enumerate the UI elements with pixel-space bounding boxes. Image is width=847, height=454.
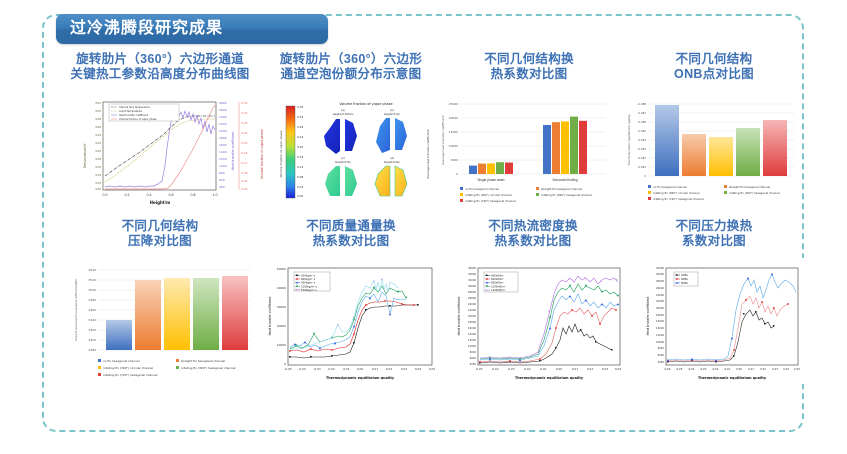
svg-text:1400: 1400 xyxy=(219,150,227,154)
svg-text:30000: 30000 xyxy=(277,305,286,309)
chart-1-legend-3: Volume fraction of vapor phase xyxy=(119,118,157,121)
chart-1-svg: 552 550 548 546 544 542 540 538 536 534 … xyxy=(76,96,254,208)
svg-text:+: + xyxy=(381,277,383,281)
svg-text:0.05: 0.05 xyxy=(794,367,800,371)
svg-text:Thermodynamic equilibrium qual: Thermodynamic equilibrium quality xyxy=(627,114,631,167)
caption-chart-6: 不同质量通量换 热系数对比图 xyxy=(256,219,446,249)
svg-text:538: 538 xyxy=(95,157,101,161)
svg-text:0.03: 0.03 xyxy=(602,367,608,371)
svg-text:Temperature/K: Temperature/K xyxy=(83,143,87,170)
chart-4-legend-1: straight fin hexagonal channel xyxy=(729,185,770,189)
svg-text:0.4: 0.4 xyxy=(146,193,151,197)
svg-text:0.03: 0.03 xyxy=(401,367,407,371)
caption-line-1: 不同压力换热 xyxy=(628,219,800,234)
svg-text:0.24: 0.24 xyxy=(241,131,248,135)
svg-text:24000: 24000 xyxy=(656,293,664,297)
svg-text:Heat transfer coefficient: Heat transfer coefficient xyxy=(268,296,272,336)
chart-4-legend-2: rotating fin (360°) circular channel xyxy=(653,191,700,195)
svg-text:Average heat transfer coeffici: Average heat transfer coefficient xyxy=(441,114,445,164)
svg-text:0.20: 0.20 xyxy=(297,145,303,149)
chart-4-svg: -0.088-0.087-0.086 -0.085-0.084-0.083 -0… xyxy=(622,96,800,208)
svg-text:1800: 1800 xyxy=(219,136,227,140)
svg-text:14000: 14000 xyxy=(656,326,664,330)
caption-chart-7: 不同热流密度换 热系数对比图 xyxy=(443,219,623,249)
svg-text:0.02: 0.02 xyxy=(386,367,392,371)
svg-text:+: + xyxy=(616,277,618,281)
svg-text:20000: 20000 xyxy=(277,324,286,328)
svg-text:0.01: 0.01 xyxy=(372,367,378,371)
svg-text:25000: 25000 xyxy=(449,102,458,106)
chart-6-svg: 500004000030000 20000100000 Heat transfe… xyxy=(262,258,440,384)
caption-line-2: 热系数对比图 xyxy=(443,234,623,249)
svg-text:10000: 10000 xyxy=(468,344,476,348)
svg-text:-0.04: -0.04 xyxy=(298,367,305,371)
caption-chart-4: 不同几何结构 ONB点对比图 xyxy=(628,52,800,82)
svg-text:0: 0 xyxy=(456,172,458,176)
chart-7-legend-4: 1200kW/m² xyxy=(491,288,506,292)
svg-text:Height/m: Height/m xyxy=(150,200,171,205)
svg-text:30000: 30000 xyxy=(656,272,664,276)
svg-text:10000: 10000 xyxy=(656,340,664,344)
svg-text:8000: 8000 xyxy=(658,346,665,350)
chart-6-legend-0: 300kg/m²·s xyxy=(301,273,316,277)
chart-3-legend-2: rotating fin (360°) circular channel xyxy=(465,193,512,197)
svg-text:30000: 30000 xyxy=(468,284,476,288)
svg-text:544: 544 xyxy=(95,133,101,137)
svg-text:532: 532 xyxy=(95,181,101,185)
svg-text:Thermodynamic equilibrium qual: Thermodynamic equilibrium quality xyxy=(698,376,767,380)
svg-text:2600: 2600 xyxy=(219,108,227,112)
svg-text:0.00: 0.00 xyxy=(357,367,363,371)
svg-text:10000: 10000 xyxy=(449,144,458,148)
svg-text:28000: 28000 xyxy=(468,290,476,294)
svg-text:3400: 3400 xyxy=(88,338,96,342)
caption-line-1: 不同质量通量换 xyxy=(256,219,446,234)
svg-text:Heat transfer coefficient: Heat transfer coefficient xyxy=(457,296,461,336)
svg-text:0.02: 0.02 xyxy=(760,367,766,371)
chart-6-legend-3: 1200kg/m²·s xyxy=(301,284,317,288)
chart-8-legend-1: 6MPa xyxy=(681,277,688,281)
chart-7-svg: 360003400032000 300002800026000 24000220… xyxy=(450,258,628,384)
svg-text:32000: 32000 xyxy=(656,266,664,270)
svg-text:6000: 6000 xyxy=(658,353,665,357)
svg-text:3380: 3380 xyxy=(88,348,96,352)
svg-text:36000: 36000 xyxy=(468,266,476,270)
svg-text:3440: 3440 xyxy=(88,318,96,322)
svg-text:3480: 3480 xyxy=(88,298,96,302)
caption-chart-8: 不同压力换热 系数对比图 xyxy=(628,219,800,249)
svg-text:-0.02: -0.02 xyxy=(712,367,719,371)
svg-text:600: 600 xyxy=(219,178,225,182)
caption-line-1: 不同几何结构 xyxy=(628,52,800,67)
svg-text:18000: 18000 xyxy=(656,313,664,317)
svg-text:0.20: 0.20 xyxy=(241,141,248,145)
svg-text:28000: 28000 xyxy=(656,279,664,283)
svg-text:12000: 12000 xyxy=(656,333,664,337)
svg-text:0.04: 0.04 xyxy=(615,367,621,371)
chart-5-legend-3: rotating fin (360°) hexagonal channel xyxy=(181,366,236,370)
svg-text:24000: 24000 xyxy=(468,302,476,306)
svg-text:0.0: 0.0 xyxy=(102,193,107,197)
svg-text:550: 550 xyxy=(95,109,101,113)
caption-chart-2: 旋转肋片（360°）六边形 通道空泡份额分布示意图 xyxy=(256,52,446,82)
svg-text:530: 530 xyxy=(95,187,101,191)
svg-text:400: 400 xyxy=(219,185,225,189)
svg-text:0.16: 0.16 xyxy=(241,151,248,155)
chart-8-legend-0: 4MPa xyxy=(681,273,688,277)
chart-6-container[interactable]: 500004000030000 20000100000 Heat transfe… xyxy=(262,258,440,384)
svg-text:0.00: 0.00 xyxy=(556,367,562,371)
svg-text:-0.05: -0.05 xyxy=(676,367,683,371)
svg-text:-0.03: -0.03 xyxy=(700,367,707,371)
svg-text:+: + xyxy=(568,277,570,281)
chart-3-xtick-0: Single-phase water xyxy=(477,178,505,182)
chart-2-title: Volume fraction of vapor phase xyxy=(339,102,392,106)
svg-text:+: + xyxy=(353,315,355,319)
svg-text:-0.086: -0.086 xyxy=(637,120,646,124)
svg-text:0.01: 0.01 xyxy=(572,367,578,371)
svg-text:0: 0 xyxy=(644,174,646,178)
chart-1-legend-0: Internal face temperature xyxy=(119,106,150,109)
svg-text:4000: 4000 xyxy=(470,362,477,366)
chart-3-legend-3: rotating fin (360°) hexagonal channel xyxy=(541,193,592,197)
caption-line-1: 旋转肋片（360°）六边形通道 xyxy=(62,52,258,67)
chart-6-legend-4: 1500kg/m²·s xyxy=(301,288,317,292)
caption-chart-1: 旋转肋片（360°）六边形通道 关键热工参数沿高度分布曲线图 xyxy=(62,52,258,82)
chart-2-panel-c-label: Height=0.6m xyxy=(335,160,352,164)
slide-title-bar: 过冷沸腾段研究成果 xyxy=(56,14,328,44)
svg-text:34000: 34000 xyxy=(468,272,476,276)
chart-2-panel-b-label: Height=0.3m xyxy=(384,112,401,116)
svg-text:0.04: 0.04 xyxy=(415,367,421,371)
svg-text:548: 548 xyxy=(95,117,101,121)
svg-text:1200: 1200 xyxy=(219,157,227,161)
svg-text:2400: 2400 xyxy=(219,115,227,119)
caption-line-2: 关键热工参数沿高度分布曲线图 xyxy=(62,67,258,82)
caption-line-2: 通道空泡份额分布示意图 xyxy=(256,67,446,82)
caption-chart-5: 不同几何结构 压降对比图 xyxy=(62,219,258,249)
svg-text:2000: 2000 xyxy=(219,129,227,133)
svg-text:Volume fraction of vapor phase: Volume fraction of vapor phase xyxy=(260,129,264,179)
svg-text:0.08: 0.08 xyxy=(297,175,303,179)
chart-8-legend-2: 8MPa xyxy=(681,281,688,285)
svg-text:2200: 2200 xyxy=(219,122,227,126)
svg-text:+: + xyxy=(584,275,586,279)
chart-4-container[interactable]: -0.088-0.087-0.086 -0.085-0.084-0.083 -0… xyxy=(622,96,800,208)
caption-line-1: 不同热流密度换 xyxy=(443,219,623,234)
svg-text:-0.082: -0.082 xyxy=(637,156,646,160)
svg-text:0.32: 0.32 xyxy=(241,111,248,115)
svg-text:-0.05: -0.05 xyxy=(475,367,482,371)
svg-text:14000: 14000 xyxy=(468,332,476,336)
svg-text:0.05: 0.05 xyxy=(429,367,435,371)
svg-text:-0.084: -0.084 xyxy=(637,138,646,142)
svg-text:3540: 3540 xyxy=(88,268,96,272)
chart-1-container[interactable]: 552 550 548 546 544 542 540 538 536 534 … xyxy=(76,96,254,208)
caption-line-2: 热系数对比图 xyxy=(256,234,446,249)
chart-3-legend-4: rotating fin (720°) hexagonal channel xyxy=(465,199,516,203)
chart-5-legend-2: rotating fin (360°) circular channel xyxy=(103,366,153,370)
chart-4-legend-3: rotating fin (360°) hexagonal channel xyxy=(729,191,780,195)
chart-5-container[interactable]: 354035203500 348034603440 342034003380 I… xyxy=(70,258,256,384)
svg-text:-0.04: -0.04 xyxy=(491,367,498,371)
caption-line-2: 系数对比图 xyxy=(628,234,800,249)
svg-text:0.00: 0.00 xyxy=(297,194,303,198)
svg-text:-0.088: -0.088 xyxy=(637,102,646,106)
svg-text:0.6: 0.6 xyxy=(168,193,173,197)
svg-text:16000: 16000 xyxy=(468,326,476,330)
svg-text:-0.081: -0.081 xyxy=(637,165,646,169)
svg-text:-0.06: -0.06 xyxy=(664,367,671,371)
svg-text:0.04: 0.04 xyxy=(297,185,303,189)
chart-3-svg: 250002000015000 1000050000 Average heat … xyxy=(436,96,612,208)
chart-5-legend-1: straight fin hexagonal channel xyxy=(181,359,225,363)
svg-text:0.8: 0.8 xyxy=(190,193,195,197)
caption-line-2: 热系数对比图 xyxy=(443,67,615,82)
chart-1-legend-1: Liquid temperature xyxy=(119,110,143,113)
chart-7-legend-1: 600kW/m² xyxy=(491,277,504,281)
svg-text:552: 552 xyxy=(95,101,101,105)
svg-text:1.0: 1.0 xyxy=(212,193,217,197)
svg-text:+: + xyxy=(488,356,490,360)
svg-text:6000: 6000 xyxy=(470,356,477,360)
chart-1-legend-2: Heat transfer coefficient xyxy=(119,114,148,117)
svg-text:-0.03: -0.03 xyxy=(507,367,514,371)
svg-text:-0.04: -0.04 xyxy=(688,367,695,371)
svg-text:536: 536 xyxy=(95,165,101,169)
svg-text:546: 546 xyxy=(95,125,101,129)
svg-text:50000: 50000 xyxy=(277,267,286,271)
svg-text:0.28: 0.28 xyxy=(241,121,248,125)
svg-text:22000: 22000 xyxy=(468,308,476,312)
svg-text:+: + xyxy=(548,309,550,313)
svg-text:0.32: 0.32 xyxy=(297,115,303,119)
svg-text:18000: 18000 xyxy=(468,320,476,324)
svg-text:534: 534 xyxy=(95,173,101,177)
page-title: 过冷沸腾段研究成果 xyxy=(56,21,223,37)
chart-2-panel-d-label: Height=0.9m xyxy=(384,160,401,164)
svg-text:Volume fraction of vapor phase: Volume fraction of vapor phase xyxy=(279,130,283,177)
caption-chart-3: 不同几何结构换 热系数对比图 xyxy=(443,52,615,82)
svg-text:2800: 2800 xyxy=(219,101,227,105)
caption-line-1: 旋转肋片（360°）六边形 xyxy=(256,52,446,67)
chart-7-legend-2: 800kW/m² xyxy=(491,281,504,285)
chart-3-legend-1: straight fin hexagonal channel xyxy=(541,187,582,191)
svg-text:5000: 5000 xyxy=(451,158,459,162)
svg-text:0.28: 0.28 xyxy=(297,125,303,129)
svg-text:-0.01: -0.01 xyxy=(724,367,731,371)
chart-5-svg: 354035203500 348034603440 342034003380 I… xyxy=(70,258,256,384)
chart-8-container[interactable]: 320003000028000 260002400022000 20000180… xyxy=(640,258,808,384)
chart-4-legend-4: rotating fin (720°) hexagonal channel xyxy=(653,197,704,201)
svg-text:0.04: 0.04 xyxy=(241,179,248,183)
svg-text:+: + xyxy=(337,323,339,327)
svg-text:Heat transfer coefficient: Heat transfer coefficient xyxy=(231,131,235,171)
caption-line-2: ONB点对比图 xyxy=(628,67,800,82)
svg-text:4000: 4000 xyxy=(658,360,665,364)
svg-text:0.24: 0.24 xyxy=(297,135,303,139)
chart-4-legend-0: no fin hexagonal channel xyxy=(653,185,687,189)
svg-text:-0.01: -0.01 xyxy=(342,367,349,371)
chart-2-container[interactable]: Volume fraction of vapor phase Volume fr… xyxy=(258,96,434,208)
svg-text:0.00: 0.00 xyxy=(736,367,742,371)
chart-2-panel-a-label: Height=0.0001m xyxy=(333,112,354,116)
svg-text:32000: 32000 xyxy=(468,278,476,282)
svg-text:Import and export pressure dif: Import and export pressure difference/Pa xyxy=(74,279,78,341)
svg-text:+: + xyxy=(518,357,520,361)
chart-7-container[interactable]: 360003400032000 300002800026000 24000220… xyxy=(450,258,628,384)
svg-text:0.00: 0.00 xyxy=(241,187,248,191)
svg-text:-0.03: -0.03 xyxy=(313,367,320,371)
svg-text:0.02: 0.02 xyxy=(587,367,593,371)
svg-text:3520: 3520 xyxy=(88,278,96,282)
chart-6-legend-1: 600kg/m²·s xyxy=(301,277,316,281)
svg-text:542: 542 xyxy=(95,141,101,145)
chart-5-legend-0: no fin hexagonal channel xyxy=(103,359,140,363)
svg-text:-0.02: -0.02 xyxy=(523,367,530,371)
svg-text:0.16: 0.16 xyxy=(297,155,303,159)
chart-8-svg: 320003000028000 260002400022000 20000180… xyxy=(640,258,808,384)
svg-text:Average heat transfer coeffici: Average heat transfer coefficient xyxy=(426,128,430,178)
svg-text:1000: 1000 xyxy=(219,164,227,168)
svg-text:20000: 20000 xyxy=(468,314,476,318)
svg-text:0.01: 0.01 xyxy=(748,367,754,371)
svg-text:20000: 20000 xyxy=(656,306,664,310)
svg-text:-0.05: -0.05 xyxy=(284,367,291,371)
svg-text:Heat transfer coefficient: Heat transfer coefficient xyxy=(646,296,650,336)
svg-text:12000: 12000 xyxy=(468,338,476,342)
svg-text:800: 800 xyxy=(219,171,225,175)
svg-text:0.03: 0.03 xyxy=(772,367,778,371)
svg-text:Thermodynamic equilibrium qual: Thermodynamic equilibrium quality xyxy=(515,376,584,380)
svg-text:8000: 8000 xyxy=(470,350,477,354)
chart-3-container[interactable]: 250002000015000 1000050000 Average heat … xyxy=(436,96,612,208)
svg-text:0.2: 0.2 xyxy=(124,193,129,197)
svg-text:22000: 22000 xyxy=(656,299,664,303)
chart-7-legend-3: 1000kW/m² xyxy=(491,284,506,288)
svg-text:540: 540 xyxy=(95,149,101,153)
caption-line-1: 不同几何结构 xyxy=(62,219,258,234)
svg-text:-0.083: -0.083 xyxy=(637,147,646,151)
chart-2-svg: Volume fraction of vapor phase Volume fr… xyxy=(258,96,434,208)
svg-text:-0.01: -0.01 xyxy=(539,367,546,371)
caption-line-1: 不同几何结构换 xyxy=(443,52,615,67)
svg-text:10000: 10000 xyxy=(277,343,286,347)
svg-text:+: + xyxy=(600,279,602,283)
chart-6-legend-2: 900kg/m²·s xyxy=(301,281,316,285)
svg-text:0.12: 0.12 xyxy=(297,165,303,169)
svg-text:20000: 20000 xyxy=(449,116,458,120)
chart-3-legend-0: no fin hexagonal channel xyxy=(465,187,499,191)
svg-text:0.12: 0.12 xyxy=(241,161,248,165)
svg-text:16000: 16000 xyxy=(656,319,664,323)
svg-text:3420: 3420 xyxy=(88,328,96,332)
svg-text:-0.087: -0.087 xyxy=(637,111,646,115)
svg-text:40000: 40000 xyxy=(277,286,286,290)
chart-5-legend-4: rotating fin (720°) hexagonal channel xyxy=(103,373,158,377)
svg-text:-0.02: -0.02 xyxy=(327,367,334,371)
svg-text:3500: 3500 xyxy=(88,288,96,292)
svg-text:-0.085: -0.085 xyxy=(637,129,646,133)
svg-text:0.04: 0.04 xyxy=(783,367,789,371)
svg-text:0.36: 0.36 xyxy=(297,105,303,109)
svg-text:0.08: 0.08 xyxy=(241,171,248,175)
slide-canvas: 过冷沸腾段研究成果 旋转肋片（360°）六边形通道 关键热工参数沿高度分布曲线图… xyxy=(0,0,847,454)
svg-text:0: 0 xyxy=(284,362,286,366)
svg-text:26000: 26000 xyxy=(656,286,664,290)
svg-text:+: + xyxy=(373,279,375,283)
chart-3-xtick-1: Subcooled boiling xyxy=(552,178,577,182)
svg-text:0.36: 0.36 xyxy=(241,101,248,105)
caption-line-2: 压降对比图 xyxy=(62,234,258,249)
svg-text:Thermodynamic equilibrium qual: Thermodynamic equilibrium quality xyxy=(326,376,395,380)
chart-7-legend-0: 400kW/m² xyxy=(491,273,504,277)
svg-text:1600: 1600 xyxy=(219,143,227,147)
svg-text:15000: 15000 xyxy=(449,130,458,134)
svg-text:3460: 3460 xyxy=(88,308,96,312)
svg-text:26000: 26000 xyxy=(468,296,476,300)
